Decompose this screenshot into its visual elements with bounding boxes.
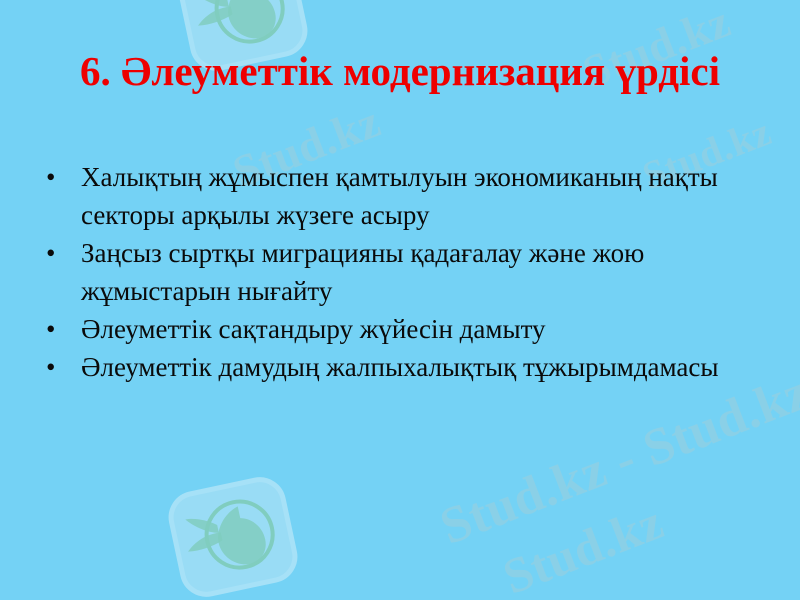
presentation-slide: Stud.kz Stud.kz Stud.kz Stud.kz - Stud.k… — [0, 0, 800, 600]
list-item: • Әлеуметтік дамудың жалпыхалықтық тұжыр… — [38, 348, 750, 386]
list-item-text: Әлеуметтік сақтандыру жүйесін дамыту — [81, 310, 750, 348]
list-item-text: Әлеуметтік дамудың жалпыхалықтық тұжырым… — [81, 348, 750, 386]
list-item-text: Заңсыз сыртқы миграцияны қадағалау және … — [81, 234, 750, 310]
slide-content: 6. Әлеуметтік модернизация үрдісі • Халы… — [0, 0, 800, 600]
bullet-marker-icon: • — [38, 310, 81, 348]
list-item-text: Халықтың жұмыспен қамтылуын экономиканың… — [81, 158, 750, 234]
list-item: • Халықтың жұмыспен қамтылуын экономикан… — [38, 158, 750, 234]
list-item: • Әлеуметтік сақтандыру жүйесін дамыту — [38, 310, 750, 348]
list-item: • Заңсыз сыртқы миграцияны қадағалау жән… — [38, 234, 750, 310]
bullet-marker-icon: • — [38, 234, 81, 272]
bullet-marker-icon: • — [38, 348, 81, 386]
slide-title: 6. Әлеуметтік модернизация үрдісі — [60, 45, 740, 98]
bullet-list: • Халықтың жұмыспен қамтылуын экономикан… — [38, 158, 750, 386]
bullet-marker-icon: • — [38, 158, 81, 196]
